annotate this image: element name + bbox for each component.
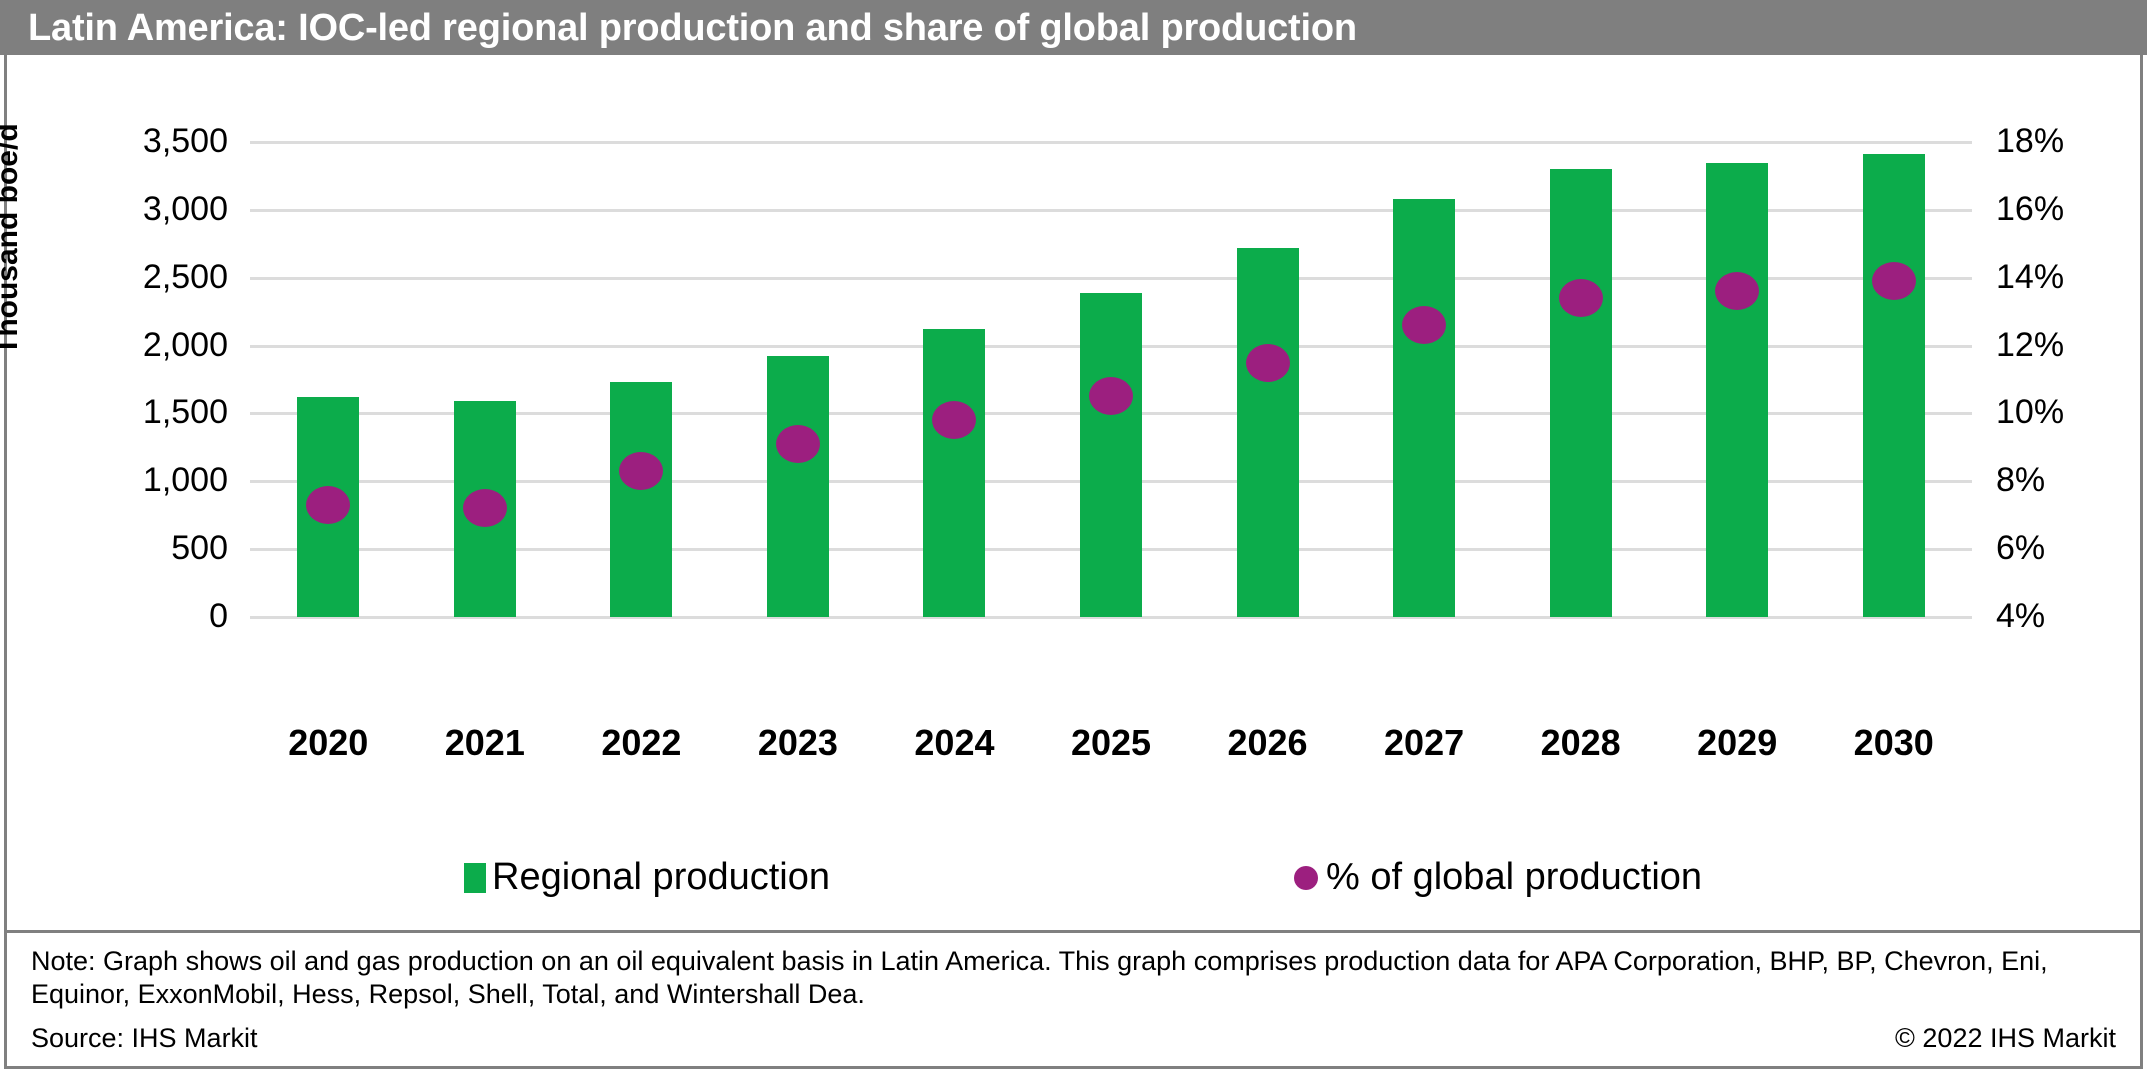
y-axis-tick-label: 2,500 — [78, 260, 228, 294]
bar-2029[interactable] — [1706, 163, 1768, 617]
x-axis-tick-label-2029: 2029 — [1657, 722, 1817, 764]
x-axis-tick-label-2024: 2024 — [874, 722, 1034, 764]
plot-frame: Thousand boe/d 05001,0001,5002,0002,5003… — [4, 55, 2143, 930]
x-axis-tick-label-2030: 2030 — [1814, 722, 1974, 764]
y2-axis-tick-label: 18% — [1996, 124, 2146, 158]
plot-area: 05001,0001,5002,0002,5003,0003,5004%6%8%… — [250, 142, 1972, 617]
y2-axis-tick-label: 4% — [1996, 599, 2146, 633]
y2-axis-tick-label: 14% — [1996, 260, 2146, 294]
y-axis-tick-label: 3,000 — [78, 192, 228, 226]
legend-label-share-of-global-production: % of global production — [1326, 856, 1702, 899]
bar-2027[interactable] — [1393, 199, 1455, 617]
y2-axis-tick-label: 16% — [1996, 192, 2146, 226]
y-axis-tick-label: 0 — [78, 599, 228, 633]
chart-footer: Note: Graph shows oil and gas production… — [4, 930, 2143, 1069]
x-axis-tick-label-2021: 2021 — [405, 722, 565, 764]
chart-figure: Latin America: IOC-led regional producti… — [0, 0, 2147, 1073]
x-axis-tick-label-2026: 2026 — [1188, 722, 1348, 764]
bar-2028[interactable] — [1550, 169, 1612, 617]
data-point-2030[interactable] — [1872, 262, 1916, 300]
data-point-2021[interactable] — [463, 489, 507, 527]
y2-axis-tick-label: 12% — [1996, 328, 2146, 362]
x-axis-tick-label-2022: 2022 — [561, 722, 721, 764]
green-square-swatch-icon — [464, 863, 486, 893]
source-text: Source: IHS Markit — [31, 1023, 258, 1054]
bar-2026[interactable] — [1237, 248, 1299, 617]
bar-2023[interactable] — [767, 356, 829, 617]
x-axis-tick-label-2023: 2023 — [718, 722, 878, 764]
legend-label-regional-production: Regional production — [492, 856, 830, 899]
y-axis-title: Thousand boe/d — [0, 123, 25, 355]
y-axis-tick-label: 2,000 — [78, 328, 228, 362]
y-axis-tick-label: 1,500 — [78, 395, 228, 429]
bar-2024[interactable] — [923, 329, 985, 617]
x-axis-tick-label-2028: 2028 — [1501, 722, 1661, 764]
footnote-text: Note: Graph shows oil and gas production… — [31, 945, 2111, 1011]
y-axis-tick-label: 500 — [78, 531, 228, 565]
copyright-text: © 2022 IHS Markit — [1895, 1023, 2116, 1054]
y2-axis-tick-label: 8% — [1996, 463, 2146, 497]
legend-item-regional-production[interactable]: Regional production — [464, 856, 830, 899]
x-axis-tick-label-2025: 2025 — [1031, 722, 1191, 764]
bar-2022[interactable] — [610, 382, 672, 617]
x-axis-tick-label-2027: 2027 — [1344, 722, 1504, 764]
bar-2030[interactable] — [1863, 154, 1925, 617]
data-point-2027[interactable] — [1402, 306, 1446, 344]
data-point-2020[interactable] — [306, 486, 350, 524]
data-point-2023[interactable] — [776, 425, 820, 463]
legend-item-share-of-global-production[interactable]: % of global production — [1294, 856, 1702, 899]
bar-2025[interactable] — [1080, 293, 1142, 617]
x-axis-tick-label-2020: 2020 — [248, 722, 408, 764]
chart-legend: Regional production % of global producti… — [4, 856, 2143, 918]
title-bar: Latin America: IOC-led regional producti… — [0, 0, 2147, 55]
y-axis-tick-label: 3,500 — [78, 124, 228, 158]
chart-title: Latin America: IOC-led regional producti… — [28, 4, 1357, 52]
purple-circle-swatch-icon — [1294, 866, 1318, 890]
y2-axis-tick-label: 6% — [1996, 531, 2146, 565]
gridline — [250, 141, 1972, 144]
y2-axis-tick-label: 10% — [1996, 395, 2146, 429]
data-point-2026[interactable] — [1246, 344, 1290, 382]
data-point-2028[interactable] — [1559, 279, 1603, 317]
y-axis-tick-label: 1,000 — [78, 463, 228, 497]
